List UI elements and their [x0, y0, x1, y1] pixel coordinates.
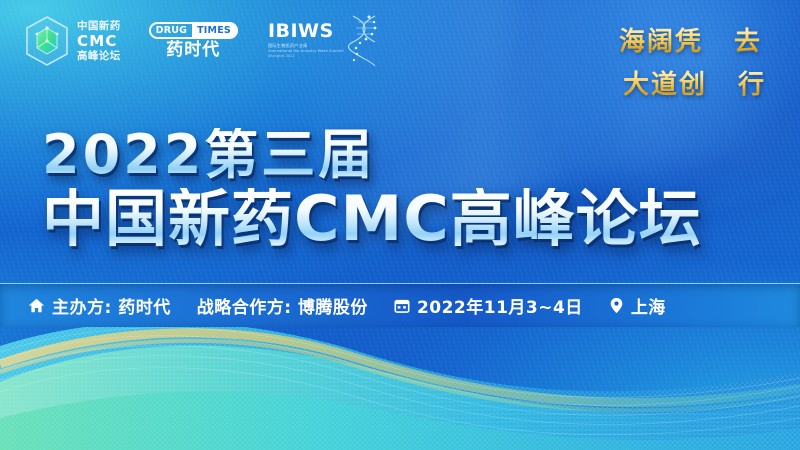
- conference-banner: 中国新药 CMC 高峰论坛 DRUG TIMES 药时代 IBIWS 国际生物医…: [0, 0, 800, 450]
- slogan-line1-suffix: 去: [734, 27, 762, 57]
- drug-times-logo[interactable]: DRUG TIMES 药时代: [149, 22, 238, 60]
- drug-times-left-label: DRUG: [151, 24, 193, 37]
- title-main-line: 中国新药CMC高峰论坛: [42, 188, 702, 250]
- slogan-line-2: 大道创新行: [619, 65, 766, 102]
- capsule-icon: DRUG TIMES: [149, 22, 238, 39]
- ibiws-acronym: IBIWS: [268, 22, 344, 41]
- info-item-date: 2022年11月3~4日: [394, 293, 583, 318]
- main-title-block: 2022第三届 中国新药CMC高峰论坛: [42, 128, 702, 250]
- ibiws-subtitle-en: International Bio-Industry Week Summit: [268, 50, 344, 54]
- dna-helix-icon: [347, 14, 381, 68]
- cmc-logo-line2: CMC: [77, 34, 121, 49]
- slogan-line1-prefix: 海阔凭: [619, 27, 703, 57]
- title-year-line: 2022第三届: [42, 128, 702, 182]
- slogan-line1-calligraphic: 药: [702, 22, 736, 61]
- info-item-partner: 战略合作方: 博腾股份: [197, 293, 368, 318]
- event-info-bar: 主办方: 药时代 战略合作方: 博腾股份 2022年11月3~4日: [0, 283, 800, 327]
- info-item-location: 上海: [609, 293, 666, 318]
- drug-times-chinese-label: 药时代: [166, 41, 220, 60]
- ibiws-logo[interactable]: IBIWS 国际生物医药产业周 International Bio-Indust…: [268, 14, 381, 68]
- info-label-location: 上海: [631, 293, 666, 318]
- slogan-line2-suffix: 行: [738, 70, 766, 100]
- slogan-line-1: 海阔凭药去: [619, 22, 762, 59]
- event-slogan: 海阔凭药去 大道创新行: [619, 22, 762, 101]
- info-label-partner: 战略合作方: 博腾股份: [197, 293, 368, 318]
- info-item-organizer: 主办方: 药时代: [28, 293, 171, 318]
- sponsor-logo-row: 中国新药 CMC 高峰论坛 DRUG TIMES 药时代 IBIWS 国际生物医…: [24, 14, 381, 68]
- info-label-organizer: 主办方: 药时代: [52, 293, 171, 318]
- hexagon-molecule-icon: [24, 15, 70, 67]
- calendar-icon: [394, 298, 410, 314]
- location-icon: [609, 297, 624, 314]
- cmc-logo-line1: 中国新药: [77, 21, 121, 32]
- home-icon: [28, 297, 45, 314]
- ibiws-subtitle-year: Shanghai 2022: [268, 55, 344, 58]
- cmc-forum-logo[interactable]: 中国新药 CMC 高峰论坛: [24, 15, 121, 67]
- ibiws-subtitle-cn: 国际生物医药产业周: [268, 44, 344, 48]
- drug-times-right-label: TIMES: [192, 24, 236, 37]
- slogan-line2-calligraphic: 新: [706, 64, 740, 103]
- info-label-date: 2022年11月3~4日: [417, 293, 583, 318]
- cmc-logo-line3: 高峰论坛: [77, 51, 121, 62]
- slogan-line2-prefix: 大道创: [623, 70, 707, 100]
